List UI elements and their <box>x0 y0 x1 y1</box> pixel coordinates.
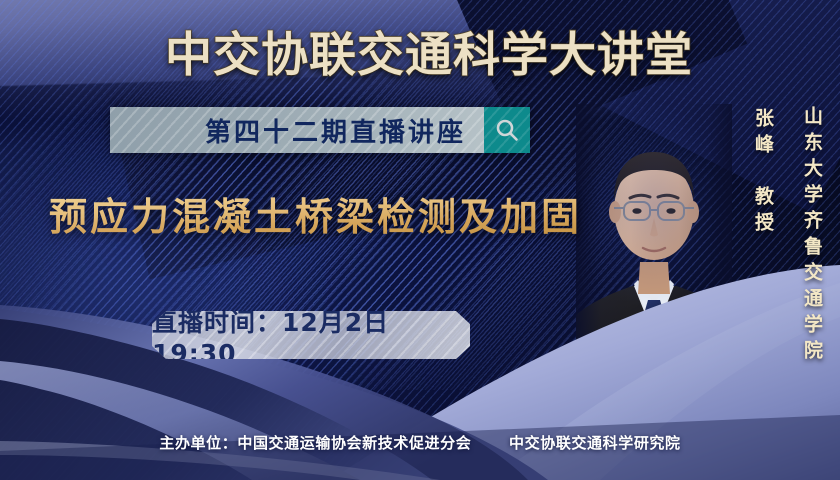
footer-organizer: 主办单位：中国交通运输协会新技术促进分会 <box>159 434 471 452</box>
footer-institute: 中交协联交通科学研究院 <box>509 434 681 452</box>
live-time-label: 直播时间：12月2日19:30 <box>152 311 470 359</box>
episode-label-wrap: 第四十二期直播讲座 <box>110 107 484 153</box>
webinar-poster: 中交协联交通科学大讲堂 第四十二期直播讲座 预应力混凝土桥梁检测及加固 直播时间… <box>0 0 840 480</box>
lecture-title: 预应力混凝土桥梁检测及加固 <box>49 186 582 241</box>
speaker-affiliation: 山东大学齐鲁交通学院 <box>799 106 826 366</box>
episode-label: 第四十二期直播讲座 <box>205 112 466 149</box>
page-title: 中交协联交通科学大讲堂 <box>0 16 840 85</box>
search-icon[interactable] <box>484 107 530 153</box>
speaker-name: 张峰 教授 <box>750 108 777 238</box>
footer: 主办单位：中国交通运输协会新技术促进分会 中交协联交通科学研究院 <box>0 432 840 453</box>
episode-banner: 第四十二期直播讲座 <box>110 107 530 153</box>
live-time-badge: 直播时间：12月2日19:30 <box>152 311 470 359</box>
